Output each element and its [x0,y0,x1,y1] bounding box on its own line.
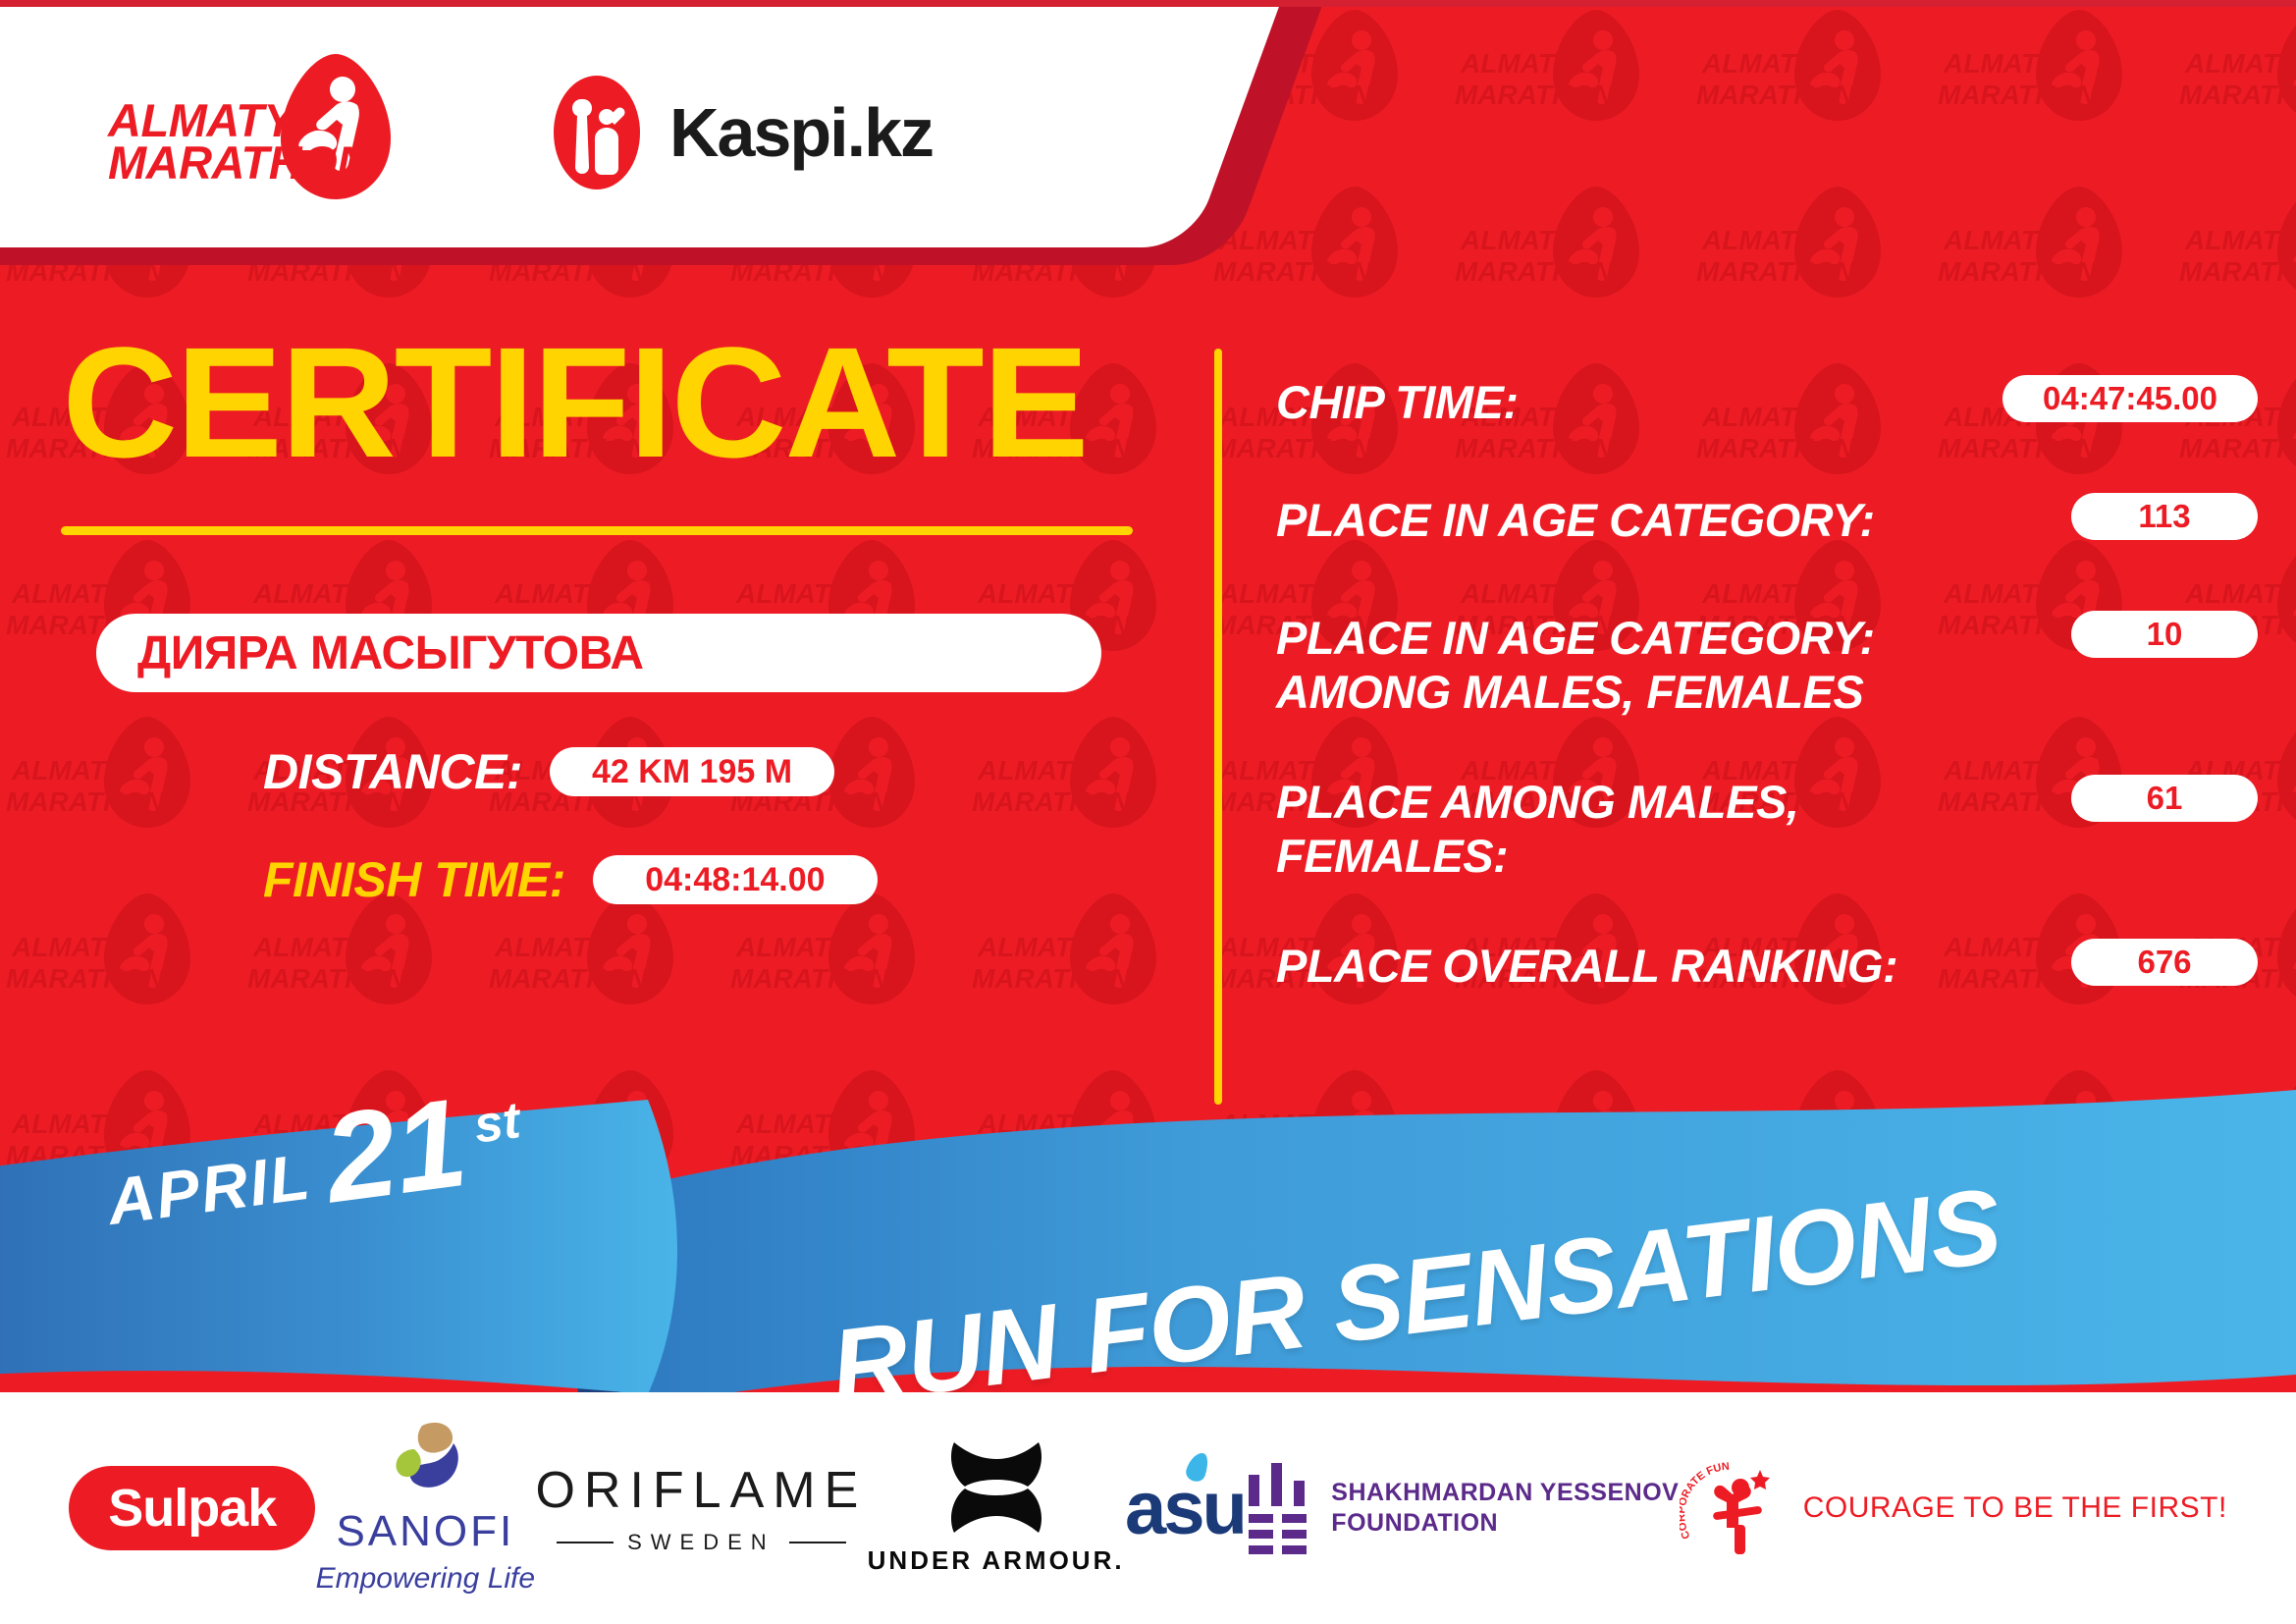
oriflame-tagline: SWEDEN [627,1530,775,1555]
place-age-category-value: 113 [2071,493,2258,540]
yessenov-name: SHAKHMARDAN YESSENOV [1331,1478,1679,1508]
oriflame-subline: SWEDEN [535,1530,867,1555]
place-among-gender-label-line2: FEMALES: [1276,829,1798,883]
sanofi-wordmark: SANOFI [316,1507,535,1556]
kaspi-people-icon [550,74,644,191]
distance-label: DISTANCE: [263,743,522,800]
finish-time-value: 04:48:14.00 [593,855,878,904]
place-among-gender-label-line1: PLACE AMONG MALES, [1276,776,1798,828]
place-age-category-label: PLACE IN AGE CATEGORY: [1276,493,1875,547]
kaspi-logo: Kaspi.kz [550,74,933,191]
sponsor-asu: asu [1125,1466,1245,1551]
certificate-left-column: CERTIFICATE ДИЯРА МАСЫГУТОВА DISTANCE: 4… [0,324,1188,908]
participant-name: ДИЯРА МАСЫГУТОВА [137,626,644,680]
page-title: CERTIFICATE [0,324,1211,481]
finish-time-row: FINISH TIME: 04:48:14.00 [0,851,1188,908]
distance-value: 42 KM 195 M [550,747,834,796]
certificate-canvas: ALMATY MARATHON Kaspi.kz CERTIFICATE ДИЯ… [0,0,2296,1624]
chip-time-label: CHIP TIME: [1276,375,1519,429]
yessenov-bars-icon [1245,1461,1309,1555]
asu-wordmark: asu [1125,1466,1245,1551]
sponsor-sulpak: Sulpak [69,1466,315,1550]
chip-time-value: 04:47:45.00 [2002,375,2258,422]
almaty-marathon-logo: ALMATY MARATHON [108,54,402,211]
stat-row-place-age-category: PLACE IN AGE CATEGORY: 113 [1276,493,2258,556]
ribbon-month: APRIL [103,1139,315,1239]
header-logos: ALMATY MARATHON Kaspi.kz [0,0,1178,265]
almaty-marathon-wordmark: ALMATY MARATHON [108,99,370,184]
ribbon-day: 21 [320,1093,472,1211]
kaspi-wordmark: Kaspi.kz [669,93,933,172]
yessenov-wordmark: SHAKHMARDAN YESSENOV FOUNDATION [1331,1478,1679,1540]
place-among-gender-value: 61 [2071,775,2258,822]
asu-wordmark-text: asu [1125,1467,1245,1550]
marathon-logo-line2: MARATHON [108,141,370,184]
finish-time-label: FINISH TIME: [263,851,565,908]
place-overall-value: 676 [2071,939,2258,986]
stat-row-chip-time: CHIP TIME: 04:47:45.00 [1276,375,2258,438]
participant-name-field: ДИЯРА МАСЫГУТОВА [96,614,1101,692]
certificate-stats-column: CHIP TIME: 04:47:45.00 PLACE IN AGE CATE… [1276,375,2258,1056]
ribbon-date: APRIL 21 st [100,1085,528,1239]
place-age-category-gender-label-line1: PLACE IN AGE CATEGORY: [1276,612,1875,664]
sponsor-oriflame: ORIFLAME SWEDEN [535,1461,867,1555]
sanofi-bird-icon [371,1422,479,1498]
under-armour-icon [924,1440,1069,1535]
place-overall-label: PLACE OVERALL RANKING: [1276,939,1897,993]
sponsor-courage-fund: CORPORATE FUND COURAGE TO BE THE FIRST! [1680,1454,2227,1562]
place-age-category-gender-label-line2: AMONG MALES, FEMALES [1276,665,1875,719]
stat-row-place-among-gender: PLACE AMONG MALES, FEMALES: 61 [1276,775,2258,884]
yessenov-tagline: FOUNDATION [1331,1508,1679,1539]
courage-fund-tagline: COURAGE TO BE THE FIRST! [1803,1490,2227,1526]
marathon-logo-line1: ALMATY [108,99,370,141]
oriflame-rule-left [557,1542,614,1543]
place-among-gender-label: PLACE AMONG MALES, FEMALES: [1276,775,1798,884]
under-armour-wordmark: UNDER ARMOUR. [868,1545,1125,1576]
sulpak-wordmark: Sulpak [69,1466,315,1550]
ribbon-slogan: RUN FOR SENSATIONS [825,1164,2006,1429]
sanofi-tagline: Empowering Life [316,1562,535,1596]
place-age-category-gender-value: 10 [2071,611,2258,658]
courage-fund-icon: CORPORATE FUND [1680,1454,1788,1562]
sponsor-under-armour: UNDER ARMOUR. [868,1440,1125,1576]
sponsor-strip: Sulpak SANOFI Empowering Life ORIFLAME S… [0,1392,2296,1624]
place-age-category-gender-label: PLACE IN AGE CATEGORY: AMONG MALES, FEMA… [1276,611,1875,720]
stat-row-place-overall: PLACE OVERALL RANKING: 676 [1276,939,2258,1001]
oriflame-rule-right [789,1542,846,1543]
stat-row-place-age-category-gender: PLACE IN AGE CATEGORY: AMONG MALES, FEMA… [1276,611,2258,720]
ribbon-day-suffix: st [471,1091,524,1156]
distance-row: DISTANCE: 42 KM 195 M [0,743,1188,800]
column-divider [1214,349,1222,1105]
title-underline [61,526,1133,535]
oriflame-wordmark: ORIFLAME [535,1461,867,1520]
sponsor-sanofi: SANOFI Empowering Life [316,1422,535,1596]
sponsor-yessenov-foundation: SHAKHMARDAN YESSENOV FOUNDATION [1245,1461,1679,1555]
